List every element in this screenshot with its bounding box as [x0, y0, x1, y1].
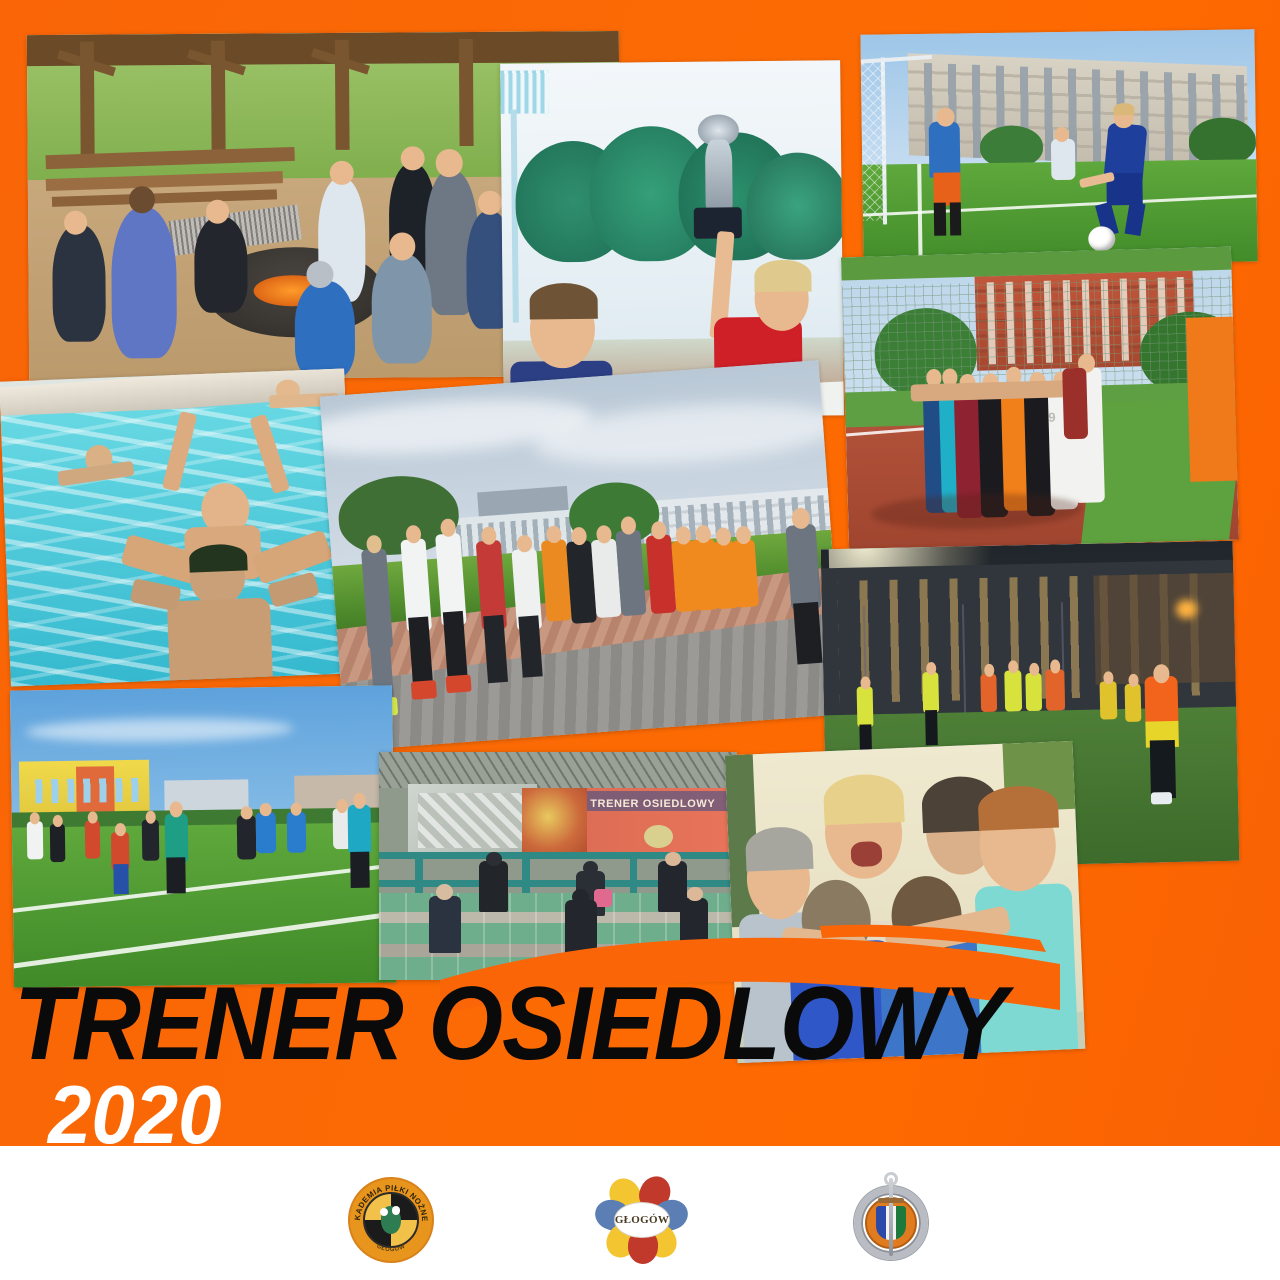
logo-glogow-center-label: GŁOGÓW: [614, 1202, 670, 1238]
page-title: TRENER OSIEDLOWY: [0, 975, 1280, 1075]
photo-football-shot: [860, 29, 1257, 266]
stands-banner-text: TRENER OSIEDLOWY: [590, 793, 733, 816]
badge-sword-guard: [878, 1198, 904, 1203]
logo-akademia-pilki-noznej[interactable]: AKADEMIA PIŁKI NOŻNEJ GŁOGÓW: [348, 1177, 434, 1263]
sponsor-logos: AKADEMIA PIŁKI NOŻNEJ GŁOGÓW GŁOGÓW: [0, 1168, 1280, 1272]
svg-text:GŁOGÓW: GŁOGÓW: [375, 1244, 406, 1254]
poster-canvas: 9: [0, 0, 1280, 1280]
logo-heraldic-badge[interactable]: [850, 1172, 932, 1268]
logo-apn-top-label: AKADEMIA PIŁKI NOŻNEJ: [350, 1179, 429, 1222]
svg-text:AKADEMIA PIŁKI NOŻNEJ: AKADEMIA PIŁKI NOŻNEJ: [350, 1179, 429, 1222]
poster-year: 2020: [0, 1073, 1280, 1156]
logo-glogow-city[interactable]: GŁOGÓW: [596, 1176, 688, 1264]
poster-title-block: TRENER OSIEDLOWY 2020: [0, 975, 1280, 1151]
photo-team-lineup-school: [320, 360, 845, 751]
photo-stands-banner: TRENER OSIEDLOWY: [379, 752, 737, 980]
badge-sword-blade: [889, 1178, 893, 1256]
logo-apn-ring-text: AKADEMIA PIŁKI NOŻNEJ GŁOGÓW: [350, 1179, 432, 1261]
photo-running-pitch: [10, 685, 396, 987]
logo-apn-bottom-label: GŁOGÓW: [375, 1244, 406, 1254]
photo-team-huddle-court: 9: [841, 247, 1239, 551]
badge-sword-pommel: [884, 1172, 898, 1186]
photo-swimming-pool: [0, 368, 356, 686]
